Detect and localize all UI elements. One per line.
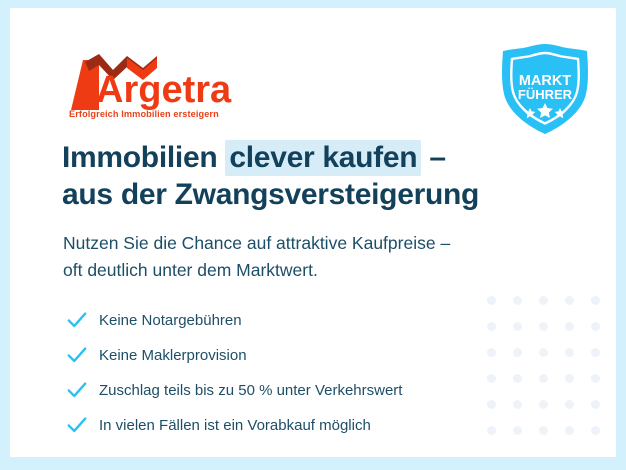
check-icon: [66, 379, 88, 401]
headline-part1: Immobilien: [62, 141, 225, 174]
benefit-label: Keine Notargebühren: [99, 313, 242, 328]
decoration-dot: [539, 400, 548, 409]
headline-part2: –: [421, 141, 445, 174]
logo-wordmark: Argetra: [96, 69, 232, 111]
check-icon: [66, 344, 88, 366]
decoration-dot: [565, 426, 574, 435]
decoration-dot: [591, 426, 600, 435]
decoration-dot: [513, 400, 522, 409]
decoration-dot: [513, 374, 522, 383]
list-item: Keine Maklerprovision: [66, 340, 402, 370]
decoration-dot: [591, 400, 600, 409]
decoration-dot: [539, 296, 548, 305]
benefit-label: Keine Maklerprovision: [99, 348, 247, 363]
decoration-dot: [487, 322, 496, 331]
decoration-dot: [565, 374, 574, 383]
headline-highlight: clever kaufen: [225, 140, 421, 176]
dot-grid-decoration: [478, 287, 608, 443]
benefit-list: Keine Notargebühren Keine Maklerprovisio…: [66, 305, 402, 440]
decoration-dot: [565, 348, 574, 357]
argetra-logo[interactable]: Argetra Erfolgreich Immobilien ersteiger…: [65, 52, 265, 122]
headline: Immobilien clever kaufen – aus der Zwang…: [62, 140, 582, 213]
decoration-dot: [487, 348, 496, 357]
decoration-dot: [487, 400, 496, 409]
subheading-line2: oft deutlich unter dem Marktwert.: [63, 257, 563, 284]
headline-line2: aus der Zwangsversteigerung: [62, 177, 582, 214]
decoration-dot: [565, 400, 574, 409]
benefit-label: Zuschlag teils bis zu 50 % unter Verkehr…: [99, 383, 402, 398]
decoration-dot: [539, 348, 548, 357]
decoration-dot: [513, 296, 522, 305]
decoration-dot: [487, 374, 496, 383]
check-icon: [66, 414, 88, 436]
decoration-dot: [513, 322, 522, 331]
decoration-dot: [591, 322, 600, 331]
decoration-dot: [565, 296, 574, 305]
decoration-dot: [513, 426, 522, 435]
decoration-dot: [591, 348, 600, 357]
decoration-dot: [487, 426, 496, 435]
promo-banner: Argetra Erfolgreich Immobilien ersteiger…: [0, 0, 626, 470]
decoration-dot: [565, 322, 574, 331]
badge-line2: FÜHRER: [518, 87, 573, 102]
decoration-dot: [539, 426, 548, 435]
banner-card: Argetra Erfolgreich Immobilien ersteiger…: [10, 8, 616, 457]
decoration-dot: [487, 296, 496, 305]
subheading: Nutzen Sie die Chance auf attraktive Kau…: [63, 230, 563, 284]
decoration-dot: [513, 348, 522, 357]
decoration-dot: [539, 322, 548, 331]
decoration-dot: [591, 296, 600, 305]
list-item: Zuschlag teils bis zu 50 % unter Verkehr…: [66, 375, 402, 405]
decoration-dot: [591, 374, 600, 383]
markt-fuehrer-badge: MARKT FÜHRER: [497, 41, 593, 137]
logo-tagline: Erfolgreich Immobilien ersteigern: [69, 109, 219, 119]
check-icon: [66, 309, 88, 331]
subheading-line1: Nutzen Sie die Chance auf attraktive Kau…: [63, 230, 563, 257]
list-item: In vielen Fällen ist ein Vorabkauf mögli…: [66, 410, 402, 440]
list-item: Keine Notargebühren: [66, 305, 402, 335]
benefit-label: In vielen Fällen ist ein Vorabkauf mögli…: [99, 418, 371, 433]
decoration-dot: [539, 374, 548, 383]
